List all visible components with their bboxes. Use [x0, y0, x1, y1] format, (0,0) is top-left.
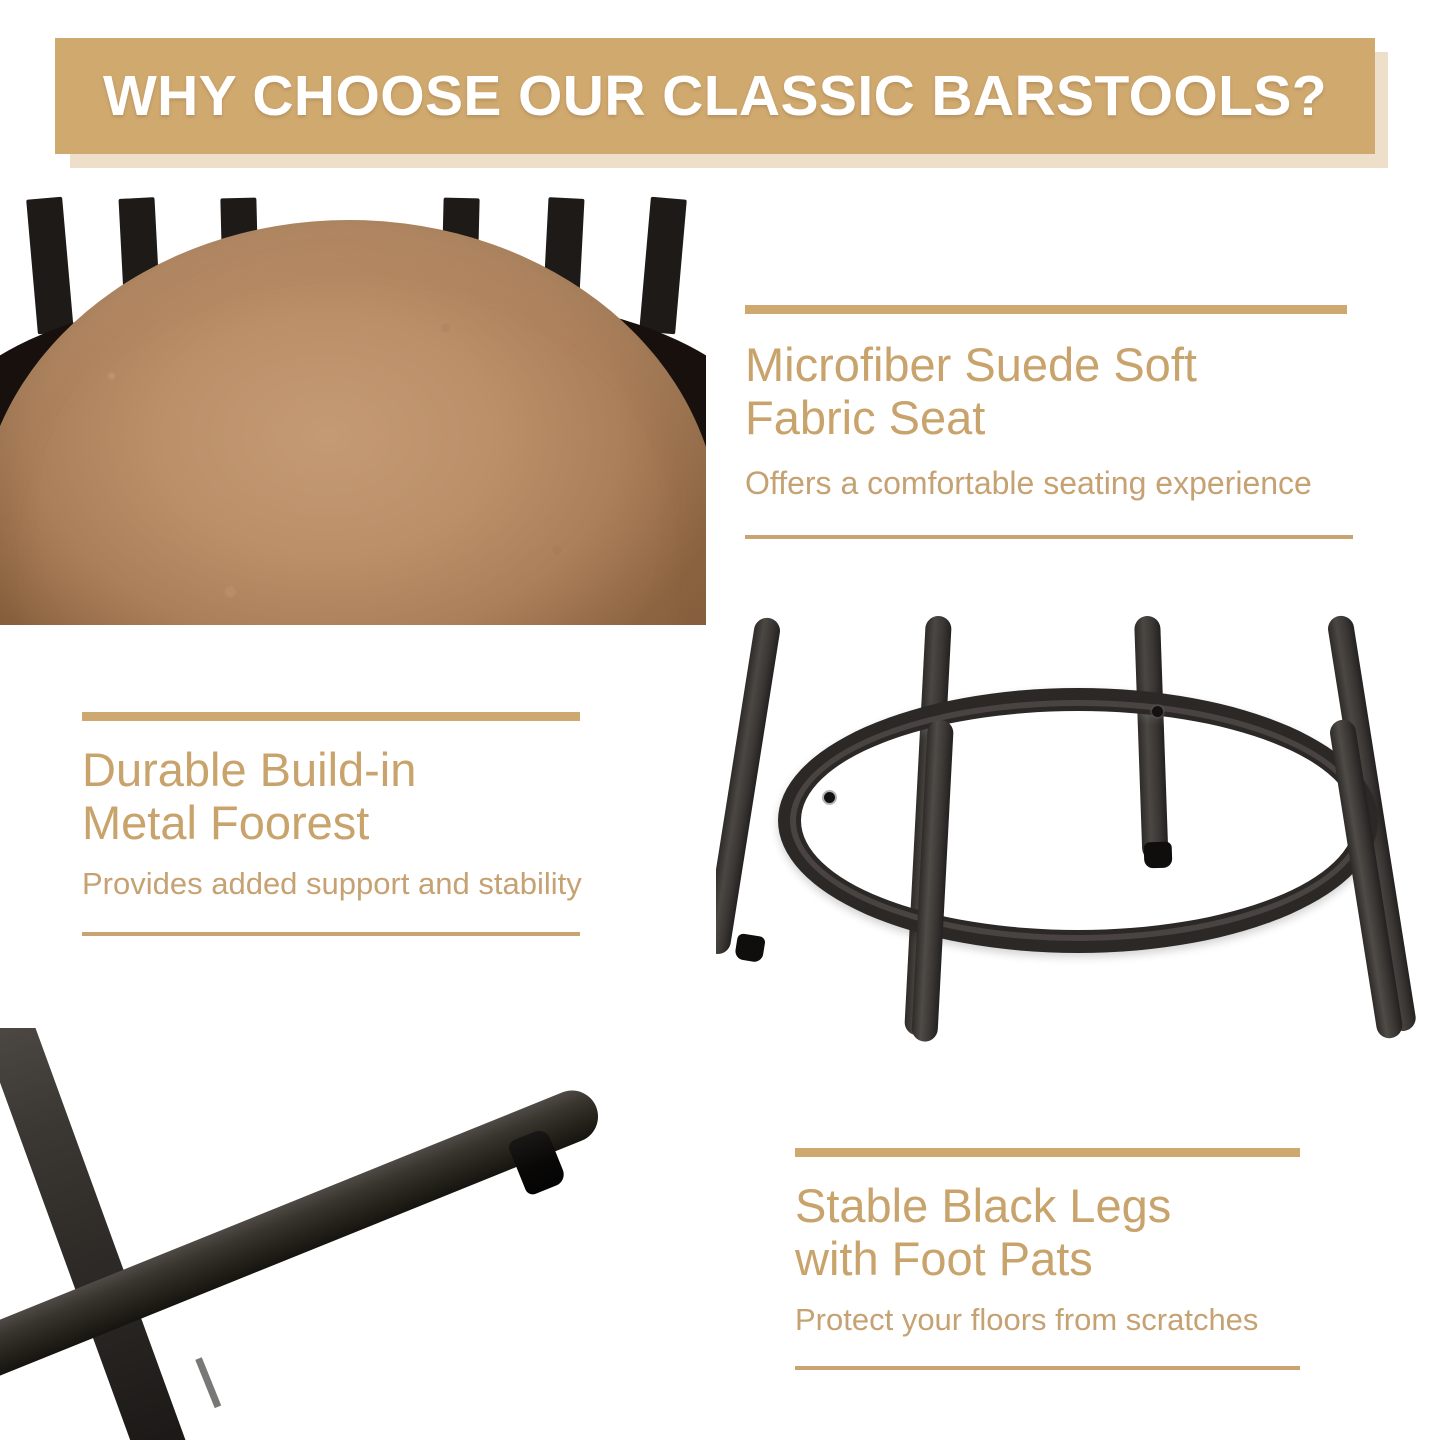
ring-screw — [824, 792, 835, 803]
feature-block-microfiber-seat: Microfiber Suede Soft Fabric Seat Offers… — [745, 305, 1347, 539]
feature-title: Stable Black Legs with Foot Pats — [795, 1179, 1300, 1285]
rule-top — [795, 1148, 1300, 1157]
spindle — [639, 197, 687, 335]
rule-top — [82, 712, 580, 721]
feature-title: Microfiber Suede Soft Fabric Seat — [745, 338, 1347, 444]
feature-block-metal-footrest: Durable Build-in Metal Foorest Provides … — [82, 712, 580, 936]
page-title: WHY CHOOSE OUR CLASSIC BARSTOOLS? — [55, 38, 1375, 154]
feature-block-black-legs: Stable Black Legs with Foot Pats Protect… — [795, 1148, 1300, 1370]
feature-title: Durable Build-in Metal Foorest — [82, 743, 580, 849]
rule-bottom — [795, 1366, 1300, 1370]
photo-microfiber-seat — [0, 188, 706, 625]
photo-black-legs — [0, 1028, 612, 1440]
ring-screw — [1152, 706, 1163, 717]
feature-subtitle: Protect your floors from scratches — [795, 1301, 1300, 1338]
foot-cap — [734, 933, 766, 963]
infographic-page: WHY CHOOSE OUR CLASSIC BARSTOOLS? Microf… — [0, 0, 1440, 1440]
footrest-ring — [778, 688, 1378, 953]
vertical-leg-tube — [0, 1028, 202, 1440]
photo-metal-footrest — [716, 600, 1440, 1045]
spindle — [26, 197, 74, 335]
rule-bottom — [82, 932, 580, 936]
rule-top — [745, 305, 1347, 314]
stool-leg — [716, 616, 782, 956]
feature-subtitle: Provides added support and stability — [82, 865, 580, 902]
rule-bottom — [745, 535, 1353, 539]
tube-seam — [195, 1357, 221, 1408]
feature-subtitle: Offers a comfortable seating experience — [745, 464, 1347, 502]
